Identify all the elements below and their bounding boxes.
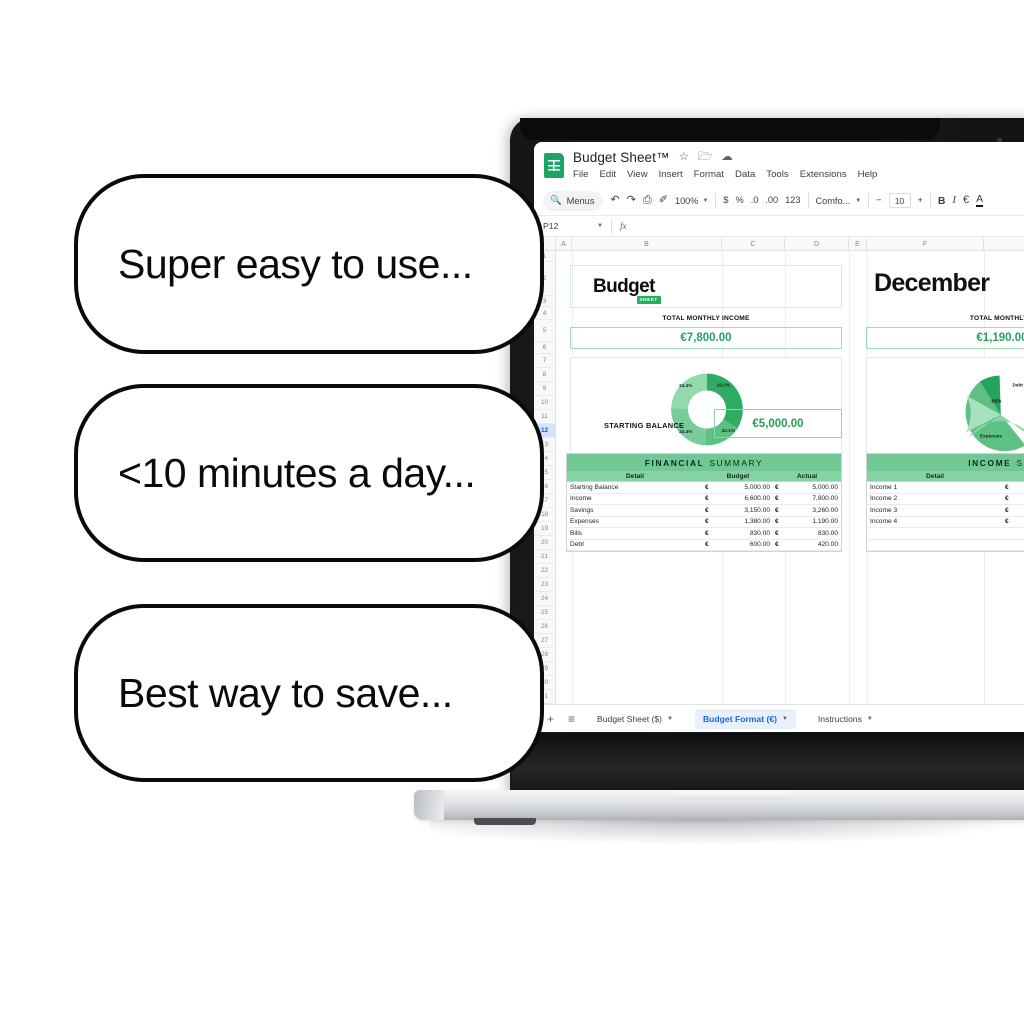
grid-cells[interactable]: Budget SHEET December TOTAL MONTHLY INCO… xyxy=(556,251,1024,704)
laptop-base-foot xyxy=(474,818,536,825)
toolbar-divider-4 xyxy=(930,193,931,208)
pie-label-debt: Debt xyxy=(1013,382,1024,387)
income-summary-header: Detail Budget xyxy=(867,471,1024,482)
is-currency: € xyxy=(1003,517,1014,528)
financial-summary-table[interactable]: FINANCIALSUMMARY Detail Budget Actual St… xyxy=(566,453,842,552)
chevron-down-icon: ▼ xyxy=(702,198,708,204)
search-menus-button[interactable]: 🔍 Menus xyxy=(543,191,603,211)
italic-button[interactable]: I xyxy=(953,195,957,206)
sheet-tab-label: Instructions xyxy=(818,714,862,724)
fs-currency: € xyxy=(773,517,784,528)
is-budget: 1,800.0 xyxy=(1014,505,1024,516)
name-box[interactable]: P12 xyxy=(543,221,589,231)
table-row[interactable]: Expenses € 1,380.00 € 1,190.00 xyxy=(567,517,841,529)
toolbar-divider-3 xyxy=(868,193,869,208)
row-header-10[interactable]: 10 xyxy=(534,396,555,410)
strikethrough-button[interactable]: € xyxy=(963,195,969,206)
formula-bar: P12 ▼ fx xyxy=(534,216,1024,237)
fs-actual: 1,190.00 xyxy=(784,517,841,528)
row-header-20[interactable]: 20 xyxy=(534,536,555,550)
month-title: December xyxy=(874,269,1024,298)
table-row[interactable]: Debt € 600.00 € 420.00 xyxy=(567,540,841,552)
fs-currency: € xyxy=(703,505,714,516)
menubar: File Edit View Insert Format Data Tools … xyxy=(573,169,1024,180)
fs-currency: € xyxy=(773,494,784,505)
donut-label-income4: 24.4% xyxy=(679,383,693,388)
row-header-9[interactable]: 9 xyxy=(534,382,555,396)
fs-budget: 600.00 xyxy=(714,540,773,551)
search-icon: 🔍 xyxy=(550,195,562,206)
all-sheets-icon[interactable]: ≡ xyxy=(568,713,575,725)
is-budget: 1,000.0 xyxy=(1014,482,1024,493)
percent-format-button[interactable]: % xyxy=(736,196,744,205)
fs-budget: 1,380.00 xyxy=(714,517,773,528)
donut-label-income1: 19.2% xyxy=(717,383,731,388)
fs-detail: Income xyxy=(567,494,703,505)
row-header-26[interactable]: 26 xyxy=(534,620,555,634)
column-header-e[interactable]: E xyxy=(849,238,867,250)
fs-currency: € xyxy=(773,505,784,516)
callout-text-1: Super easy to use... xyxy=(78,241,473,288)
chevron-down-icon: ▼ xyxy=(855,198,861,204)
column-header-b[interactable]: B xyxy=(572,238,722,250)
row-header-8[interactable]: 8 xyxy=(534,368,555,382)
is-budget: 1,800.0 xyxy=(1014,517,1024,528)
fs-col-budget: Budget xyxy=(703,471,773,481)
income-summary-title: INCOMESUM xyxy=(867,454,1024,471)
fs-currency: € xyxy=(703,517,714,528)
callout-bubble-1: Super easy to use... xyxy=(74,174,544,354)
menu-data[interactable]: Data xyxy=(735,169,755,180)
total-monthly-expenses-value[interactable]: €1,190.00 xyxy=(866,327,1024,349)
table-row[interactable]: Income € 6,600.00 € 7,800.00 xyxy=(567,494,841,506)
add-sheet-icon[interactable]: + xyxy=(547,713,554,725)
fs-actual: 420.00 xyxy=(784,540,841,551)
menu-help[interactable]: Help xyxy=(858,169,878,180)
income-summary-table[interactable]: INCOMESUM Detail Budget Income 1 € xyxy=(866,453,1024,552)
is-col-detail: Detail xyxy=(867,471,1003,481)
chevron-down-icon[interactable]: ▼ xyxy=(782,716,788,722)
fs-currency: € xyxy=(773,482,784,493)
starting-balance-value[interactable]: €5,000.00 xyxy=(714,409,842,438)
fs-currency: € xyxy=(703,494,714,505)
fs-actual: 5,000.00 xyxy=(784,482,841,493)
column-header-row: A B C D E F G xyxy=(534,238,1024,251)
fs-detail: Expenses xyxy=(567,517,703,528)
fs-budget: 830.00 xyxy=(714,528,773,539)
column-header-a[interactable]: A xyxy=(556,238,572,250)
fs-actual: 7,800.00 xyxy=(784,494,841,505)
column-header-c[interactable]: C xyxy=(722,238,785,250)
chevron-down-icon[interactable]: ▼ xyxy=(667,716,673,722)
is-currency: € xyxy=(1003,505,1014,516)
redo-icon[interactable]: ↷ xyxy=(627,195,636,206)
is-currency: € xyxy=(1003,482,1014,493)
row-header-19[interactable]: 19 xyxy=(534,522,555,536)
callout-text-3: Best way to save... xyxy=(78,670,453,717)
sheet-tab-label: Budget Sheet ($) xyxy=(597,714,662,724)
more-formats-button[interactable]: 123 xyxy=(785,196,800,205)
fs-col-actual: Actual xyxy=(773,471,841,481)
table-row[interactable] xyxy=(867,528,1024,540)
table-row[interactable]: Income 2 € 2,000.0 xyxy=(867,494,1024,506)
callout-bubble-2: <10 minutes a day... xyxy=(74,384,544,562)
sheet-tab-instructions[interactable]: Instructions ▼ xyxy=(810,709,881,729)
row-header-25[interactable]: 25 xyxy=(534,606,555,620)
row-header-21[interactable]: 21 xyxy=(534,550,555,564)
fs-detail: Starting Balance xyxy=(567,482,703,493)
row-header-5[interactable]: 5 xyxy=(534,320,555,342)
print-icon[interactable]: ⎙ xyxy=(643,195,652,206)
poster-canvas: Super easy to use... <10 minutes a day..… xyxy=(0,0,1024,1024)
fs-actual: 3,260.00 xyxy=(784,505,841,516)
laptop-base-notch xyxy=(672,791,792,800)
decrease-decimal-button[interactable]: .0 xyxy=(751,196,759,205)
chevron-down-icon[interactable]: ▼ xyxy=(867,716,873,722)
menu-tools[interactable]: Tools xyxy=(766,169,788,180)
laptop-screen: Budget Sheet™ ☆ 🗁 ☁ File Edit View Inser… xyxy=(534,142,1024,732)
sheets-toolbar: 🔍 Menus ↶ ↷ ⎙ ✐ 100% ▼ $ % .0 .00 xyxy=(534,186,1024,216)
row-header-22[interactable]: 22 xyxy=(534,564,555,578)
title-row: Budget Sheet™ ☆ 🗁 ☁ xyxy=(573,150,1024,165)
total-monthly-income-value[interactable]: €7,800.00 xyxy=(570,327,842,349)
search-menus-label: Menus xyxy=(567,196,595,206)
column-header-f[interactable]: F xyxy=(867,238,984,250)
row-header-23[interactable]: 23 xyxy=(534,578,555,592)
fs-budget: 3,150.00 xyxy=(714,505,773,516)
is-detail: Income 1 xyxy=(867,482,1003,493)
google-sheets-app: Budget Sheet™ ☆ 🗁 ☁ File Edit View Inser… xyxy=(534,142,1024,732)
menu-extensions[interactable]: Extensions xyxy=(800,169,847,180)
zoom-value: 100% xyxy=(675,196,699,206)
column-header-g[interactable]: G xyxy=(984,238,1024,250)
row-header-6[interactable]: 6 xyxy=(534,342,555,354)
is-currency: € xyxy=(1003,494,1014,505)
sheets-titlebar: Budget Sheet™ ☆ 🗁 ☁ File Edit View Inser… xyxy=(534,142,1024,186)
row-header-24[interactable]: 24 xyxy=(534,592,555,606)
fs-budget: 6,600.00 xyxy=(714,494,773,505)
fs-detail: Debt xyxy=(567,540,703,551)
pie-label-expenses: Expenses xyxy=(980,434,1002,439)
total-monthly-expenses-label: TOTAL MONTHLY E xyxy=(866,315,1024,322)
column-header-d[interactable]: D xyxy=(785,238,849,250)
table-row[interactable]: Income 4 € 1,800.0 xyxy=(867,517,1024,529)
row-header-11[interactable]: 11 xyxy=(534,410,555,424)
chevron-down-icon[interactable]: ▼ xyxy=(597,223,603,229)
callout-text-2: <10 minutes a day... xyxy=(78,450,475,497)
bold-button[interactable]: B xyxy=(938,195,946,207)
fx-icon: fx xyxy=(620,221,627,231)
decrease-font-size-button[interactable]: − xyxy=(876,196,881,205)
budget-logo-cell: Budget SHEET xyxy=(570,265,842,308)
title-block: Budget Sheet™ ☆ 🗁 ☁ File Edit View Inser… xyxy=(573,150,1024,180)
fs-currency: € xyxy=(703,528,714,539)
font-family-value: Comfo... xyxy=(816,196,851,206)
is-col-budget: Budget xyxy=(1003,471,1024,481)
fs-col-detail: Detail xyxy=(567,471,703,481)
google-sheets-logo-icon xyxy=(544,153,564,178)
fs-detail: Savings xyxy=(567,505,703,516)
table-row[interactable]: Income 1 € 1,000.0 xyxy=(867,482,1024,494)
increase-decimal-button[interactable]: .00 xyxy=(765,196,778,205)
toolbar-divider-2 xyxy=(808,193,809,208)
menu-edit[interactable]: Edit xyxy=(599,169,616,180)
font-size-input[interactable]: 10 xyxy=(889,193,911,208)
fs-currency: € xyxy=(773,540,784,551)
undo-icon[interactable]: ↶ xyxy=(610,195,619,206)
fs-detail: Bills xyxy=(567,528,703,539)
paint-format-icon[interactable]: ✐ xyxy=(659,195,668,206)
text-color-button[interactable]: A xyxy=(976,194,983,207)
menu-view[interactable]: View xyxy=(627,169,648,180)
star-icon[interactable]: ☆ xyxy=(679,152,689,164)
is-detail: Income 3 xyxy=(867,505,1003,516)
cloud-saved-icon[interactable]: ☁ xyxy=(721,152,733,164)
table-row[interactable]: Income 3 € 1,800.0 xyxy=(867,505,1024,517)
grid-vertical-line xyxy=(849,251,850,704)
total-monthly-income-label: TOTAL MONTHLY INCOME xyxy=(570,315,842,322)
sheet-tab-budget-sheet-usd[interactable]: Budget Sheet ($) ▼ xyxy=(589,709,681,729)
financial-summary-header: Detail Budget Actual xyxy=(567,471,841,482)
document-title[interactable]: Budget Sheet™ xyxy=(573,150,670,165)
table-row[interactable]: Bills € 830.00 € 830.00 xyxy=(567,528,841,540)
fs-currency: € xyxy=(703,482,714,493)
laptop-notch xyxy=(520,118,940,140)
is-detail: Income 2 xyxy=(867,494,1003,505)
financial-summary-title: FINANCIALSUMMARY xyxy=(567,454,841,471)
fs-currency: € xyxy=(703,540,714,551)
pie-label-bills: Bills xyxy=(992,399,1002,404)
menu-format[interactable]: Format xyxy=(694,169,724,180)
currency-format-button[interactable]: $ xyxy=(723,196,728,205)
budget-logo-wordmark: Budget SHEET xyxy=(593,276,655,298)
table-row[interactable]: Starting Balance € 5,000.00 € 5,000.00 xyxy=(567,482,841,494)
fs-budget: 5,000.00 xyxy=(714,482,773,493)
row-header-7[interactable]: 7 xyxy=(534,354,555,368)
sheet-tab-label: Budget Format (€) xyxy=(703,714,777,724)
grid-body: 1234567891011121314151617181920212223242… xyxy=(534,251,1024,704)
menu-insert[interactable]: Insert xyxy=(659,169,683,180)
spreadsheet-grid[interactable]: A B C D E F G 12345678910111213141516171… xyxy=(534,238,1024,704)
increase-font-size-button[interactable]: + xyxy=(918,196,923,205)
budget-logo-badge: SHEET xyxy=(637,296,661,304)
sheet-tab-budget-format-eur[interactable]: Budget Format (€) ▼ xyxy=(695,709,796,729)
sheet-tab-bar: + ≡ Budget Sheet ($) ▼ Budget Format (€)… xyxy=(534,704,1024,732)
laptop-base-left-lip xyxy=(414,790,444,820)
starting-balance-label: STARTING BALANCE xyxy=(604,421,684,430)
fs-actual: 830.00 xyxy=(784,528,841,539)
font-family-select[interactable]: Comfo... ▼ xyxy=(816,196,862,206)
zoom-select[interactable]: 100% ▼ xyxy=(675,196,708,206)
is-detail: Income 4 xyxy=(867,517,1003,528)
table-row[interactable] xyxy=(867,540,1024,552)
laptop-lid-bottom-bevel xyxy=(512,733,1024,795)
fs-currency: € xyxy=(773,528,784,539)
move-to-folder-icon[interactable]: 🗁 xyxy=(698,152,712,164)
is-budget: 2,000.0 xyxy=(1014,494,1024,505)
formulabar-divider xyxy=(611,219,612,234)
table-row[interactable]: Savings € 3,150.00 € 3,260.00 xyxy=(567,505,841,517)
menu-file[interactable]: File xyxy=(573,169,588,180)
callout-bubble-3: Best way to save... xyxy=(74,604,544,782)
toolbar-divider-1 xyxy=(715,193,716,208)
